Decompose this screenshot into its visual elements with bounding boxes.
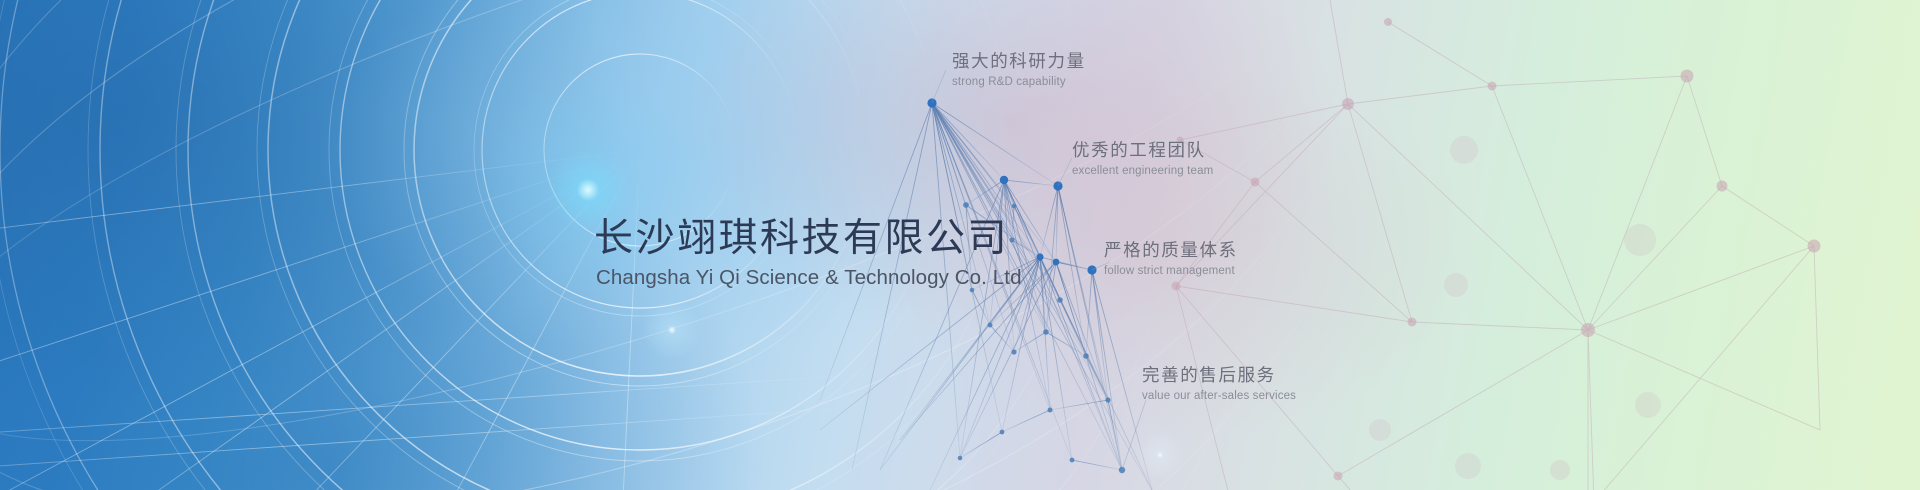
feature-label-en: excellent engineering team (1072, 165, 1213, 179)
feature-label-cn: 强大的科研力量 (952, 51, 1086, 73)
company-name-en: Changsha Yi Qi Science & Technology Co. … (596, 267, 1114, 290)
feature-label-en: value our after-sales services (1142, 390, 1296, 404)
feature-label-en: strong R&D capability (952, 76, 1086, 90)
feature-label-cn: 严格的质量体系 (1104, 240, 1238, 262)
feature-item-after-sales: 完善的售后服务 value our after-sales services (1142, 365, 1296, 404)
feature-label-en: follow strict management (1104, 265, 1238, 279)
company-name-cn: 长沙翊琪科技有限公司 (594, 218, 1114, 260)
feature-label-cn: 优秀的工程团队 (1072, 140, 1213, 162)
company-banner: 长沙翊琪科技有限公司 Changsha Yi Qi Science & Tech… (0, 0, 1920, 490)
feature-item-rnd: 强大的科研力量 strong R&D capability (952, 51, 1086, 90)
feature-label-cn: 完善的售后服务 (1142, 365, 1296, 387)
feature-item-quality-system: 严格的质量体系 follow strict management (1104, 240, 1238, 279)
feature-item-engineering-team: 优秀的工程团队 excellent engineering team (1072, 140, 1213, 179)
company-title-block: 长沙翊琪科技有限公司 Changsha Yi Qi Science & Tech… (594, 218, 1114, 290)
